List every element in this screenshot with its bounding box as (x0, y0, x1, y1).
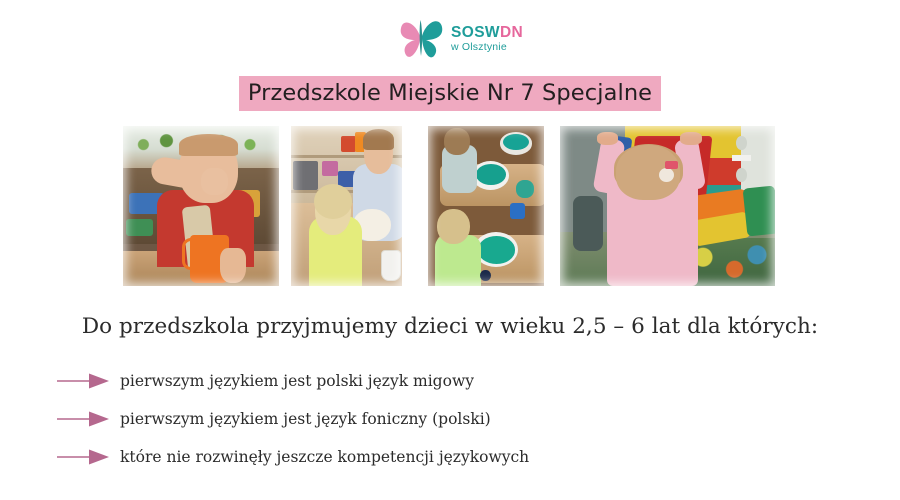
page-title: Przedszkole Miejskie Nr 7 Specjalne (239, 76, 661, 111)
lead-heading: Do przedszkola przyjmujemy dzieci w wiek… (0, 314, 900, 339)
arrow-right-icon (55, 447, 111, 467)
photo-boy-with-cup (123, 126, 279, 286)
criteria-list: pierwszym językiem jest polski język mig… (0, 362, 900, 476)
arrow-right-icon (55, 371, 111, 391)
arrow-right-icon (55, 409, 111, 429)
list-item-label: pierwszym językiem jest polski język mig… (120, 372, 474, 390)
organization-logo: SOSWDN w Olsztynie (395, 8, 540, 63)
photo-strip (0, 126, 900, 288)
photo-girl-with-parachute (560, 126, 775, 286)
list-item: które nie rozwinęły jeszcze kompetencji … (0, 438, 900, 476)
logo-subtitle: w Olsztynie (451, 42, 523, 53)
logo-wordmark: SOSWDN w Olsztynie (451, 19, 523, 53)
photo-children-with-dough (291, 126, 402, 286)
list-item-label: pierwszym językiem jest język foniczny (… (120, 410, 491, 428)
list-item: pierwszym językiem jest polski język mig… (0, 362, 900, 400)
butterfly-logo-icon (395, 10, 447, 62)
logo-name: SOSWDN (451, 25, 523, 41)
list-item: pierwszym językiem jest język foniczny (… (0, 400, 900, 438)
logo-name-part-2: DN (500, 24, 523, 41)
logo-name-part-1: SOSW (451, 24, 500, 41)
list-item-label: które nie rozwinęły jeszcze kompetencji … (120, 448, 529, 466)
page-title-container: Przedszkole Miejskie Nr 7 Specjalne (0, 76, 900, 111)
photo-children-with-kinetic-sand (428, 126, 544, 286)
